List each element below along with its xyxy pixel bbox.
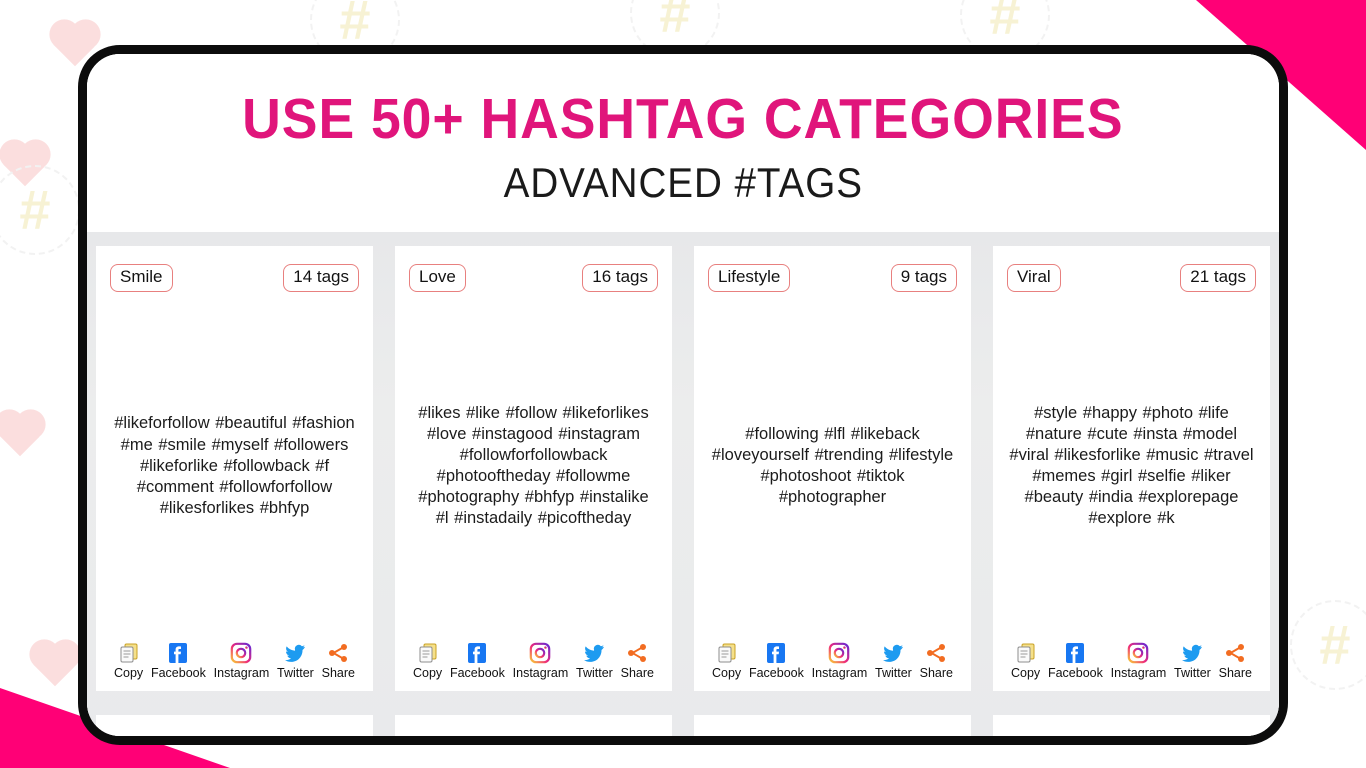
hashtag-card[interactable]: Lifestyle 9 tags #following #lfl #likeba…	[694, 246, 971, 691]
facebook-button[interactable]: Facebook	[151, 641, 206, 680]
twitter-icon	[881, 641, 905, 665]
facebook-button[interactable]: Facebook	[1048, 641, 1103, 680]
share-icon	[326, 641, 350, 665]
hashtag-decoration: #	[0, 165, 80, 255]
facebook-label: Facebook	[450, 667, 505, 680]
share-label: Share	[920, 667, 953, 680]
hashtag-text[interactable]: #likeforfollow #beautiful #fashion #me #…	[112, 413, 357, 519]
copy-button[interactable]: Copy	[114, 641, 143, 680]
twitter-button[interactable]: Twitter	[875, 641, 912, 680]
instagram-button[interactable]: Instagram	[1111, 641, 1167, 680]
hashtag-card[interactable]: Likeforfollow 18 tags	[395, 715, 672, 736]
copy-button[interactable]: Copy	[1011, 641, 1040, 680]
card-header: Lifestyle 9 tags	[708, 264, 957, 292]
share-button[interactable]: Share	[1219, 641, 1252, 680]
share-button[interactable]: Share	[920, 641, 953, 680]
copy-icon	[117, 641, 141, 665]
hashtag-card[interactable]: Viral 21 tags #style #happy #photo #life…	[993, 246, 1270, 691]
card-body: #likeforfollow #beautiful #fashion #me #…	[110, 292, 359, 641]
copy-button[interactable]: Copy	[712, 641, 741, 680]
twitter-label: Twitter	[1174, 667, 1211, 680]
facebook-button[interactable]: Facebook	[450, 641, 505, 680]
category-badge[interactable]: Viral	[1007, 264, 1061, 292]
hashtag-text[interactable]: #likes #like #follow #likeforlikes #love…	[411, 403, 656, 530]
facebook-icon	[465, 641, 489, 665]
category-grid: Smile 14 tags #likeforfollow #beautiful …	[87, 232, 1279, 736]
twitter-button[interactable]: Twitter	[1174, 641, 1211, 680]
page-subtitle: ADVANCED #TAGS	[503, 160, 862, 206]
hashtag-card[interactable]: Likesforlikes 11 tags	[993, 715, 1270, 736]
card-body: #likes #like #follow #likeforlikes #love…	[409, 292, 658, 641]
action-bar: Copy Facebook	[708, 641, 957, 684]
twitter-label: Twitter	[576, 667, 613, 680]
share-label: Share	[621, 667, 654, 680]
hashtag-text[interactable]: #following #lfl #likeback #loveyourself …	[710, 424, 955, 508]
twitter-label: Twitter	[875, 667, 912, 680]
app-header: USE 50+ HASHTAG CATEGORIES ADVANCED #TAG…	[87, 54, 1279, 232]
card-header: Love 16 tags	[409, 264, 658, 292]
hashtag-card[interactable]: Smile 14 tags #likeforfollow #beautiful …	[96, 246, 373, 691]
page-title: USE 50+ HASHTAG CATEGORIES	[242, 90, 1123, 150]
hashtag-text[interactable]: #style #happy #photo #life #nature #cute…	[1009, 403, 1254, 530]
action-bar: Copy Facebook	[1007, 641, 1256, 684]
copy-label: Copy	[1011, 667, 1040, 680]
instagram-label: Instagram	[513, 667, 569, 680]
share-label: Share	[1219, 667, 1252, 680]
copy-button[interactable]: Copy	[413, 641, 442, 680]
facebook-label: Facebook	[151, 667, 206, 680]
facebook-button[interactable]: Facebook	[749, 641, 804, 680]
category-badge[interactable]: Love	[409, 264, 466, 292]
tag-count-badge: 9 tags	[891, 264, 957, 292]
app-screen: USE 50+ HASHTAG CATEGORIES ADVANCED #TAG…	[87, 54, 1279, 736]
facebook-icon	[764, 641, 788, 665]
instagram-button[interactable]: Instagram	[214, 641, 270, 680]
instagram-label: Instagram	[214, 667, 270, 680]
copy-label: Copy	[413, 667, 442, 680]
share-button[interactable]: Share	[621, 641, 654, 680]
action-bar: Copy Facebook	[110, 641, 359, 684]
heart-decoration	[10, 150, 40, 180]
twitter-button[interactable]: Twitter	[576, 641, 613, 680]
copy-icon	[416, 641, 440, 665]
share-button[interactable]: Share	[322, 641, 355, 680]
hashtag-card[interactable]: Love 16 tags #likes #like #follow #likef…	[395, 246, 672, 691]
twitter-icon	[1180, 641, 1204, 665]
card-row-2: Photoshoot 21 tags Likeforfollow 18 tags…	[96, 715, 1270, 736]
share-label: Share	[322, 667, 355, 680]
tag-count-badge: 21 tags	[1180, 264, 1256, 292]
card-row-1: Smile 14 tags #likeforfollow #beautiful …	[96, 246, 1270, 691]
instagram-button[interactable]: Instagram	[812, 641, 868, 680]
facebook-icon	[166, 641, 190, 665]
instagram-button[interactable]: Instagram	[513, 641, 569, 680]
facebook-label: Facebook	[749, 667, 804, 680]
instagram-label: Instagram	[812, 667, 868, 680]
facebook-icon	[1063, 641, 1087, 665]
copy-label: Copy	[712, 667, 741, 680]
category-badge[interactable]: Lifestyle	[708, 264, 790, 292]
hashtag-decoration: #	[1290, 600, 1366, 690]
copy-icon	[1014, 641, 1038, 665]
share-icon	[924, 641, 948, 665]
instagram-icon	[229, 641, 253, 665]
copy-icon	[715, 641, 739, 665]
hashtag-card[interactable]: Like 19 tags	[694, 715, 971, 736]
copy-label: Copy	[114, 667, 143, 680]
twitter-label: Twitter	[277, 667, 314, 680]
heart-decoration	[5, 420, 35, 450]
hashtag-card[interactable]: Photoshoot 21 tags	[96, 715, 373, 736]
twitter-icon	[283, 641, 307, 665]
instagram-label: Instagram	[1111, 667, 1167, 680]
share-icon	[1223, 641, 1247, 665]
heart-decoration	[60, 30, 90, 60]
card-header: Smile 14 tags	[110, 264, 359, 292]
tag-count-badge: 14 tags	[283, 264, 359, 292]
card-header: Viral 21 tags	[1007, 264, 1256, 292]
twitter-icon	[582, 641, 606, 665]
instagram-icon	[827, 641, 851, 665]
card-body: #following #lfl #likeback #loveyourself …	[708, 292, 957, 641]
instagram-icon	[1126, 641, 1150, 665]
card-body: #style #happy #photo #life #nature #cute…	[1007, 292, 1256, 641]
screenshot-root: # # # # # USE 50+ HASHTAG CATEGORIES ADV…	[0, 0, 1366, 768]
instagram-icon	[528, 641, 552, 665]
heart-decoration	[40, 650, 70, 680]
twitter-button[interactable]: Twitter	[277, 641, 314, 680]
tag-count-badge: 16 tags	[582, 264, 658, 292]
device-frame: USE 50+ HASHTAG CATEGORIES ADVANCED #TAG…	[78, 45, 1288, 745]
facebook-label: Facebook	[1048, 667, 1103, 680]
category-badge[interactable]: Smile	[110, 264, 173, 292]
share-icon	[625, 641, 649, 665]
action-bar: Copy Facebook	[409, 641, 658, 684]
